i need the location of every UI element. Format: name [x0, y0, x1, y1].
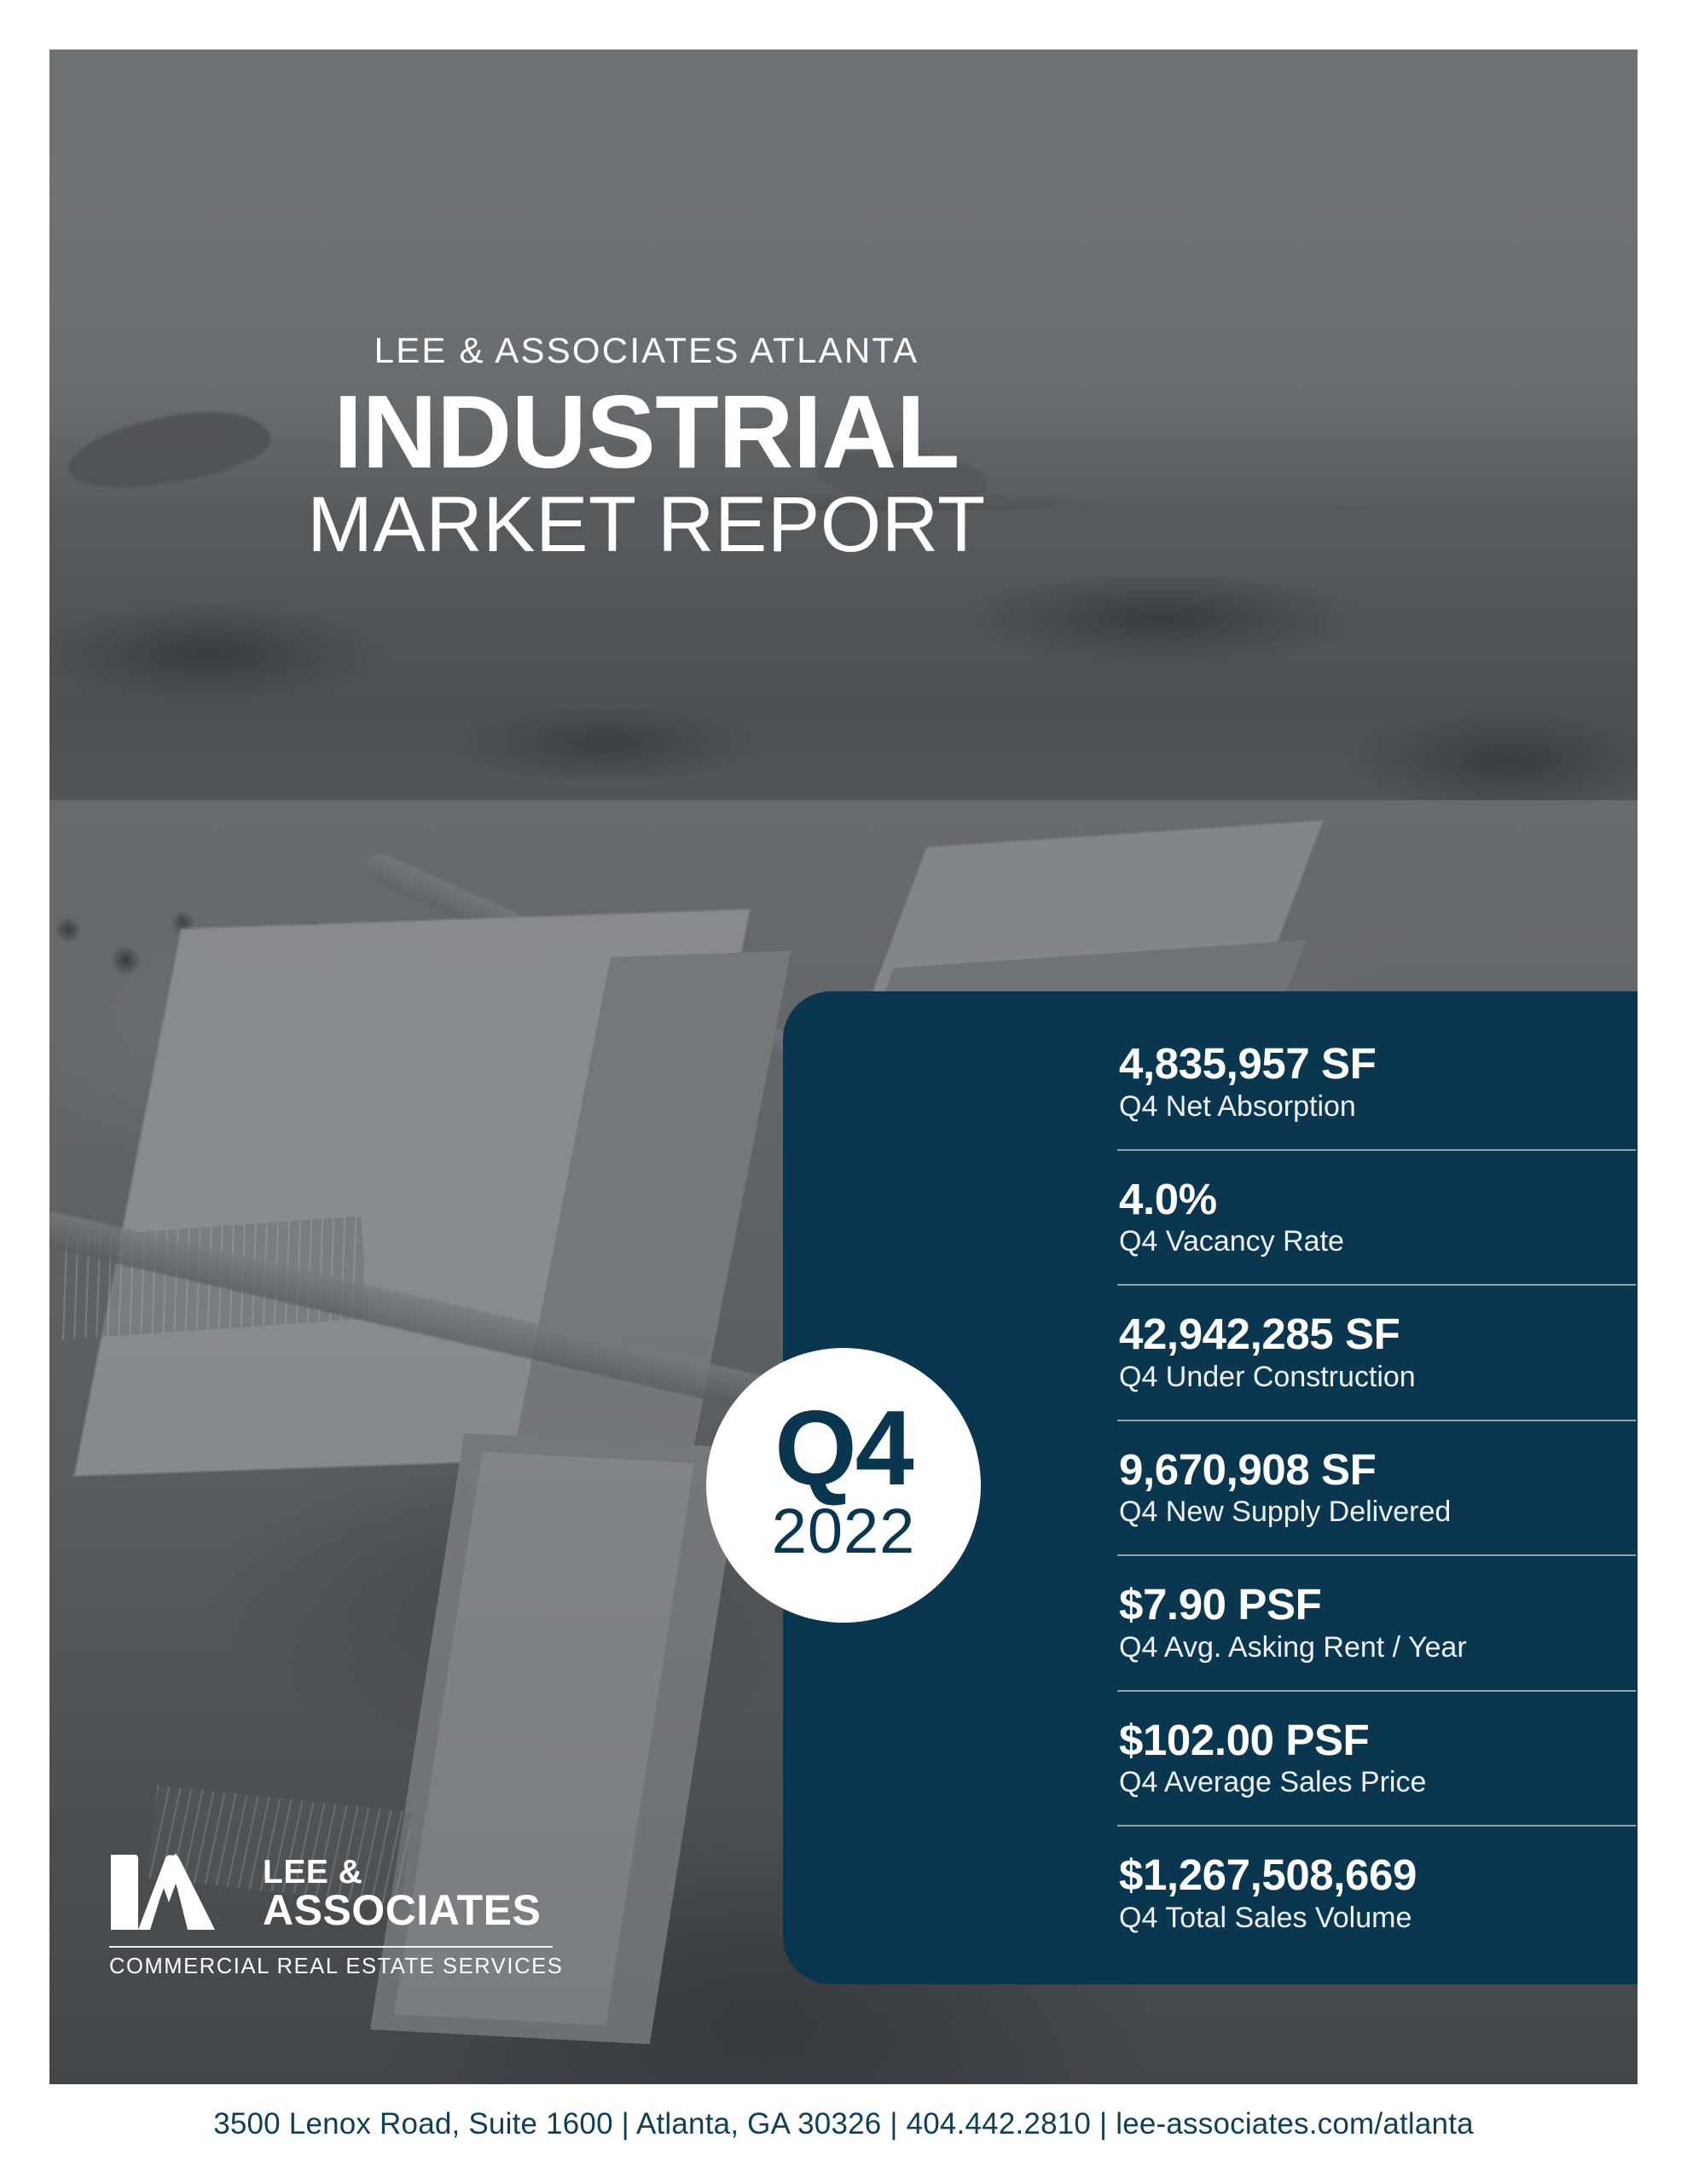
page-title: INDUSTRIAL: [49, 382, 1244, 482]
lee-associates-monogram-icon: [109, 1850, 244, 1938]
stat-net-absorption: 4,835,957 SF Q4 Net Absorption: [1117, 1015, 1636, 1149]
stat-value: 4.0%: [1119, 1176, 1636, 1223]
stat-vacancy-rate: 4.0% Q4 Vacancy Rate: [1117, 1149, 1636, 1285]
stat-value: $7.90 PSF: [1119, 1582, 1636, 1628]
report-eyebrow: LEE & ASSOCIATES ATLANTA: [49, 333, 1244, 369]
logo-line-two: ASSOCIATES: [263, 1890, 541, 1932]
stat-value: 9,670,908 SF: [1119, 1447, 1636, 1493]
stat-label: Q4 New Supply Delivered: [1119, 1495, 1636, 1529]
quarter-badge-quarter: Q4: [774, 1403, 912, 1496]
stat-under-construction: 42,942,285 SF Q4 Under Construction: [1117, 1284, 1636, 1420]
quarter-badge: Q4 2022: [706, 1348, 981, 1623]
stat-label: Q4 Average Sales Price: [1119, 1765, 1636, 1799]
stat-total-sales-volume: $1,267,508,669 Q4 Total Sales Volume: [1117, 1825, 1636, 1960]
stats-list: 4,835,957 SF Q4 Net Absorption 4.0% Q4 V…: [1117, 1015, 1636, 1960]
logo-tagline: COMMERCIAL REAL ESTATE SERVICES: [109, 1955, 553, 1979]
stat-label: Q4 Vacancy Rate: [1119, 1224, 1636, 1258]
logo-line-one: LEE &: [263, 1856, 541, 1890]
stat-label: Q4 Under Construction: [1119, 1360, 1636, 1394]
stat-label: Q4 Net Absorption: [1119, 1089, 1636, 1124]
stat-label: Q4 Total Sales Volume: [1119, 1901, 1636, 1935]
logo-top-row: LEE & ASSOCIATES: [109, 1850, 553, 1938]
stat-value: $102.00 PSF: [1119, 1717, 1636, 1763]
stat-value: 42,942,285 SF: [1119, 1311, 1636, 1357]
logo-divider: [109, 1946, 553, 1948]
logo-wordmark: LEE & ASSOCIATES: [263, 1856, 541, 1931]
lee-associates-logo: LEE & ASSOCIATES COMMERCIAL REAL ESTATE …: [109, 1850, 553, 1979]
quarter-badge-year: 2022: [772, 1500, 916, 1563]
stat-average-sales-price: $102.00 PSF Q4 Average Sales Price: [1117, 1690, 1636, 1826]
page-subtitle: MARKET REPORT: [49, 484, 1244, 566]
hero-title-block: LEE & ASSOCIATES ATLANTA INDUSTRIAL MARK…: [49, 333, 1244, 566]
stat-new-supply-delivered: 9,670,908 SF Q4 New Supply Delivered: [1117, 1420, 1636, 1555]
footer-contact-line: 3500 Lenox Road, Suite 1600 | Atlanta, G…: [0, 2107, 1687, 2141]
stat-label: Q4 Avg. Asking Rent / Year: [1119, 1630, 1636, 1664]
stat-avg-asking-rent: $7.90 PSF Q4 Avg. Asking Rent / Year: [1117, 1554, 1636, 1690]
stat-value: 4,835,957 SF: [1119, 1041, 1636, 1087]
stat-value: $1,267,508,669: [1119, 1852, 1636, 1898]
